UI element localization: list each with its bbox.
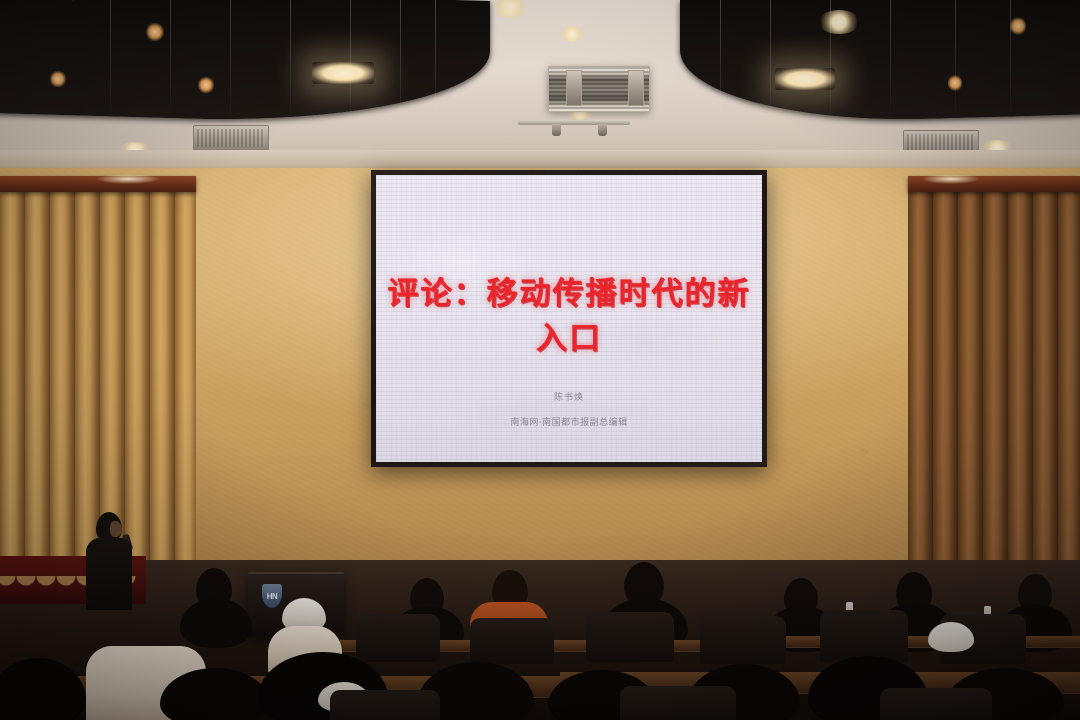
led-screen-frame: 评论：移动传播时代的新入口 陈书焕 南海网·南国都市报副总编辑 bbox=[371, 170, 767, 467]
ceiling-spot-icon bbox=[198, 76, 214, 94]
presenter-face bbox=[110, 521, 122, 537]
ac-vent-right bbox=[628, 70, 644, 106]
audience-desk bbox=[760, 636, 1080, 648]
slide-affiliation: 南海网·南国都市报副总编辑 bbox=[376, 415, 762, 428]
panel-lamp-left bbox=[312, 62, 374, 84]
slide-presenter-name: 陈书焕 bbox=[376, 390, 762, 403]
podium-logo: HN bbox=[262, 584, 282, 608]
ceiling-spot-icon bbox=[948, 74, 962, 92]
track-light-head bbox=[552, 124, 561, 136]
track-light-head bbox=[598, 124, 607, 136]
auditorium-chair bbox=[620, 686, 736, 720]
ceiling-light-icon bbox=[558, 26, 586, 42]
audience-white-hood bbox=[928, 622, 974, 652]
auditorium-chair bbox=[330, 690, 440, 720]
ac-vent-left bbox=[566, 70, 582, 106]
track-light-bar bbox=[518, 120, 630, 125]
ceiling-spot-icon bbox=[1010, 16, 1026, 36]
presenter-body bbox=[86, 538, 132, 610]
auditorium-chair bbox=[700, 616, 786, 664]
slide-title: 评论：移动传播时代的新入口 bbox=[376, 268, 762, 358]
auditorium-chair bbox=[880, 688, 992, 720]
conference-hall-photo: 评论：移动传播时代的新入口 陈书焕 南海网·南国都市报副总编辑 HN bbox=[0, 0, 1080, 720]
ceiling-light-icon bbox=[818, 10, 860, 34]
panel-lamp-right bbox=[775, 68, 835, 90]
ceiling-spot-icon bbox=[146, 22, 164, 42]
wall-speaker-icon bbox=[193, 125, 269, 151]
auditorium-chair bbox=[470, 618, 554, 664]
auditorium-chair bbox=[820, 610, 908, 662]
curtain-right bbox=[908, 176, 1080, 596]
presentation-screen[interactable]: 评论：移动传播时代的新入口 陈书焕 南海网·南国都市报副总编辑 bbox=[376, 175, 762, 462]
auditorium-chair bbox=[586, 612, 674, 662]
auditorium-chair bbox=[356, 614, 440, 662]
ceiling-spot-icon bbox=[50, 70, 66, 88]
presenter-person bbox=[86, 512, 132, 608]
